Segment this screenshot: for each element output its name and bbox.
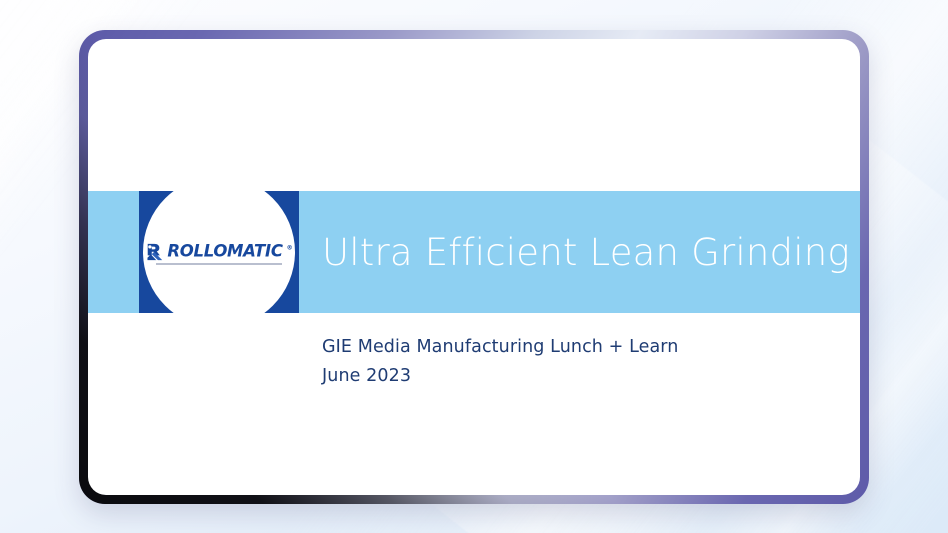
slide-frame: ROLLOMATIC ® Ultra Efficient Lean Grindi… — [79, 30, 869, 504]
slide-title: Ultra Efficient Lean Grinding — [322, 191, 850, 313]
registered-trademark-icon: ® — [287, 245, 293, 252]
slide-card: ROLLOMATIC ® Ultra Efficient Lean Grindi… — [88, 39, 860, 495]
logo-wordmark: ROLLOMATIC — [167, 244, 282, 261]
rollomatic-r-mark-icon — [145, 243, 164, 262]
subtitle-line-date: June 2023 — [322, 362, 679, 391]
brand-logo: ROLLOMATIC ® — [139, 191, 299, 313]
slide-stage: ROLLOMATIC ® Ultra Efficient Lean Grindi… — [0, 0, 948, 533]
logo-lockup: ROLLOMATIC ® — [145, 243, 292, 262]
logo-underline-rule — [156, 263, 282, 265]
subtitle-line-event: GIE Media Manufacturing Lunch + Learn — [322, 333, 679, 362]
slide-subtitle: GIE Media Manufacturing Lunch + Learn Ju… — [322, 333, 679, 391]
